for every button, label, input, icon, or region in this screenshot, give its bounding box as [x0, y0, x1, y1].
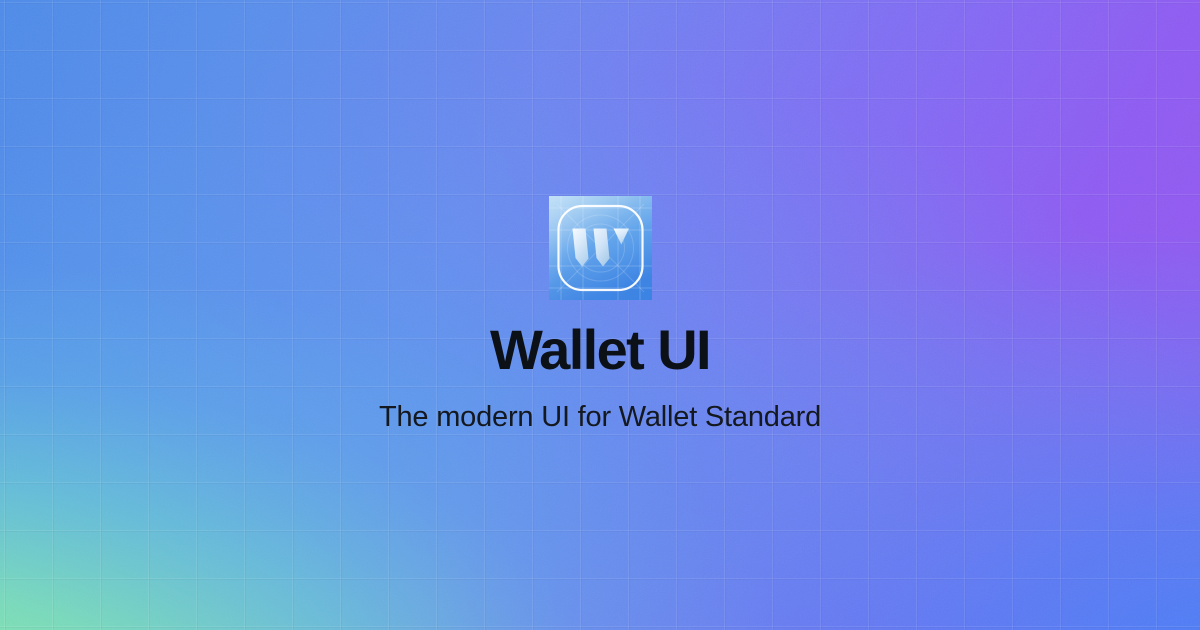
page-subtitle: The modern UI for Wallet Standard — [379, 400, 821, 435]
wallet-ui-logo-icon — [549, 196, 652, 300]
page-title: Wallet UI — [490, 322, 710, 378]
og-card: Wallet UI The modern UI for Wallet Stand… — [0, 0, 1200, 630]
hero-content: Wallet UI The modern UI for Wallet Stand… — [0, 0, 1200, 630]
